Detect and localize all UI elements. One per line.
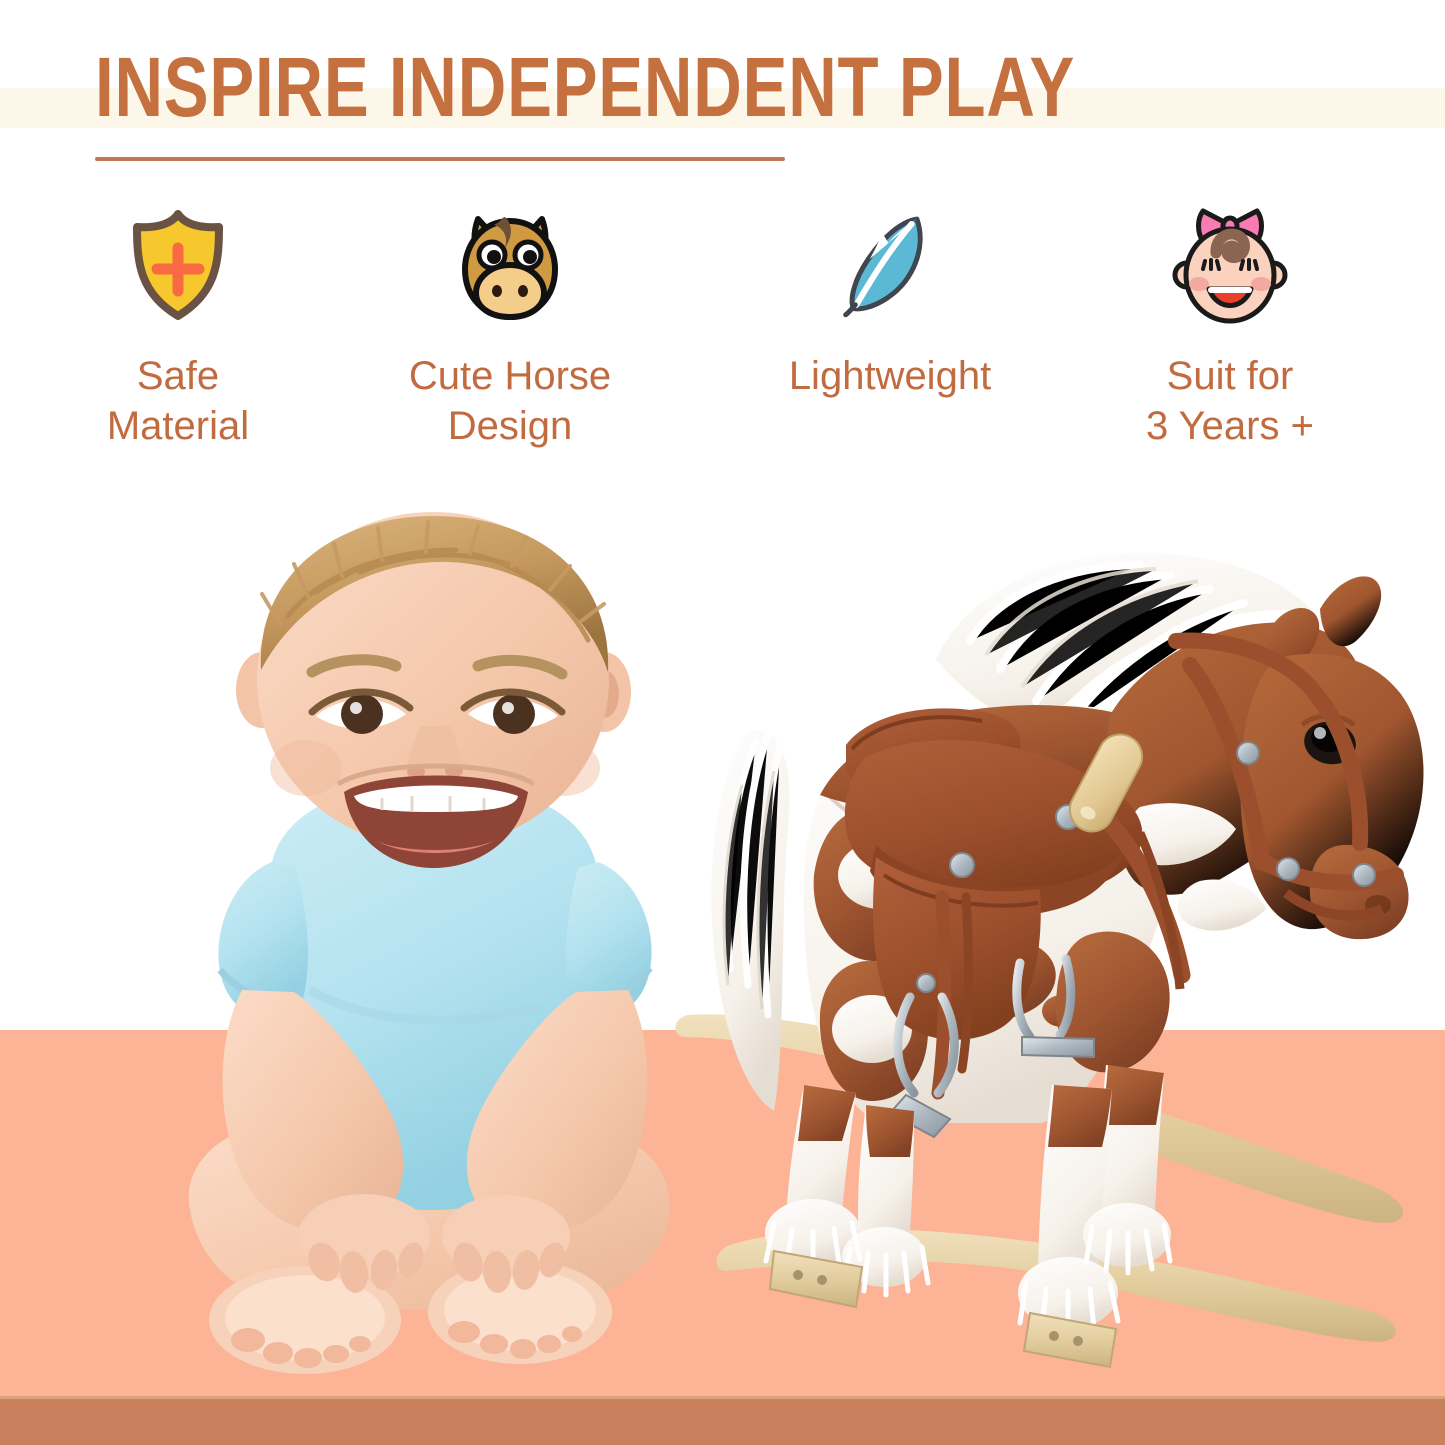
baseboard-strip	[0, 1396, 1445, 1445]
horse-head-icon	[452, 205, 568, 325]
feature-item-cute-horse-design: Cute Horse Design	[360, 205, 660, 465]
feature-label: Lightweight	[789, 351, 991, 401]
product-scene	[0, 470, 1445, 1445]
feature-item-lightweight: Lightweight	[740, 205, 1040, 465]
feature-item-age-suitability: Suit for 3 Years +	[1080, 205, 1380, 465]
feature-row: Safe Material	[0, 205, 1445, 465]
shield-plus-icon	[126, 205, 230, 325]
feature-item-safe-material: Safe Material	[28, 205, 328, 465]
feature-label: Suit for 3 Years +	[1146, 351, 1314, 451]
marketing-infographic: INSPIRE INDEPENDENT PLAY Safe Material	[0, 0, 1445, 1445]
rocking-horse-photo	[670, 545, 1445, 1400]
page-title: INSPIRE INDEPENDENT PLAY	[95, 42, 1095, 132]
feature-label: Safe Material	[107, 351, 249, 451]
baby-face-icon	[1171, 205, 1289, 325]
feather-icon	[835, 205, 945, 325]
title-divider	[95, 157, 785, 161]
horse-tail	[711, 730, 789, 1111]
feature-label: Cute Horse Design	[409, 351, 611, 451]
